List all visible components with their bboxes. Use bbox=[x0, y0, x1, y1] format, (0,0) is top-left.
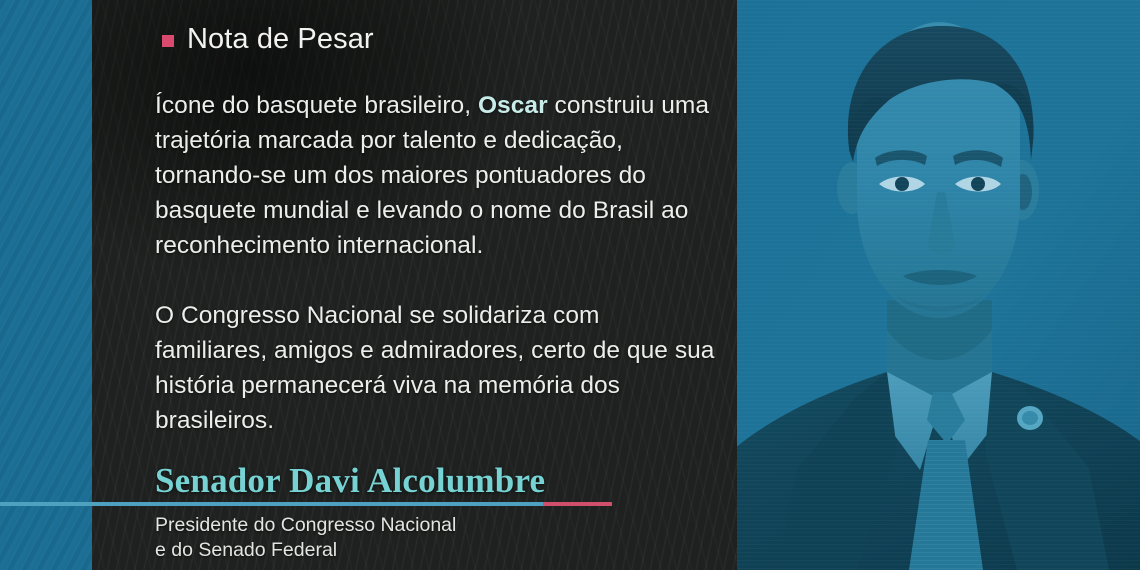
body-text: Ícone do basquete brasileiro, Oscar cons… bbox=[155, 88, 715, 438]
signature-role-line-2: e do Senado Federal bbox=[155, 538, 456, 563]
card-title-row: Nota de Pesar bbox=[162, 25, 374, 54]
paragraph-1-lead: Ícone do basquete brasileiro, bbox=[155, 92, 478, 119]
duotone-overlay bbox=[737, 0, 1140, 570]
highlighted-name: Oscar bbox=[478, 92, 548, 119]
divider-pink-segment bbox=[543, 502, 612, 506]
square-bullet-icon bbox=[162, 35, 174, 47]
page-title: Nota de Pesar bbox=[187, 25, 374, 54]
card-content: Nota de Pesar Ícone do basquete brasilei… bbox=[92, 0, 737, 570]
signature-divider bbox=[0, 502, 1140, 506]
signature-name: Senador Davi Alcolumbre bbox=[155, 463, 545, 498]
portrait-photo bbox=[737, 0, 1140, 570]
divider-blue-segment bbox=[0, 502, 612, 506]
portrait-illustration bbox=[737, 0, 1140, 570]
paragraph-1: Ícone do basquete brasileiro, Oscar cons… bbox=[155, 88, 715, 263]
signature-role: Presidente do Congresso Nacional e do Se… bbox=[155, 513, 456, 563]
signature-role-line-1: Presidente do Congresso Nacional bbox=[155, 513, 456, 538]
left-accent-panel bbox=[0, 0, 92, 570]
paragraph-2: O Congresso Nacional se solidariza com f… bbox=[155, 298, 715, 438]
nota-de-pesar-card: Nota de Pesar Ícone do basquete brasilei… bbox=[0, 0, 1140, 570]
